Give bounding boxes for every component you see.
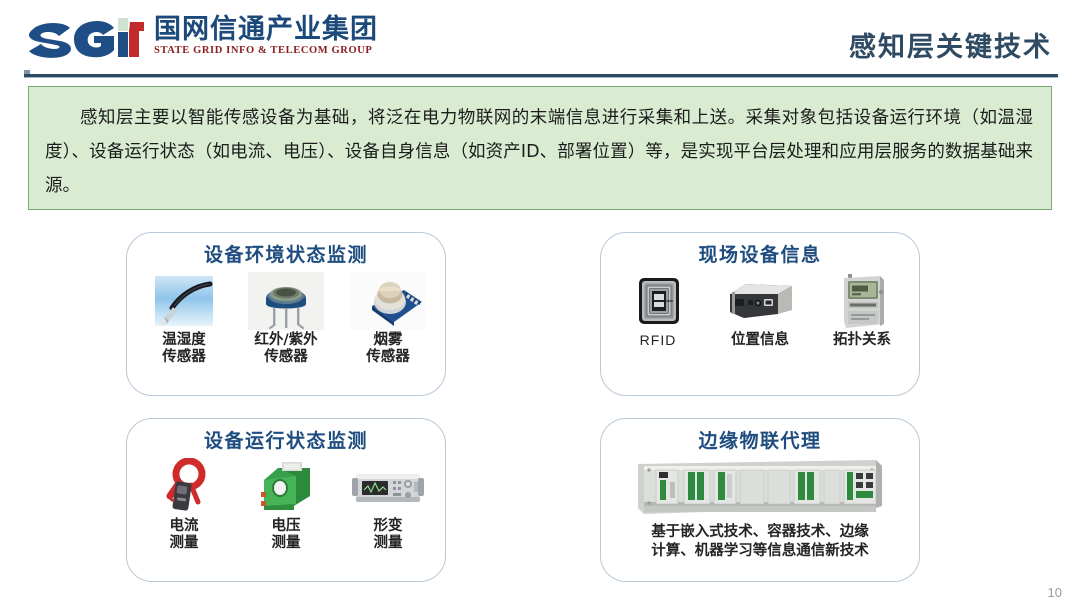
- item-label: 拓扑关系: [833, 332, 891, 349]
- item-current-measurement[interactable]: 电流 测量: [142, 458, 226, 552]
- page-title: 感知层关键技术: [849, 25, 1052, 64]
- brand-name-cn: 国网信通产业集团: [154, 16, 378, 44]
- item-deformation-measurement[interactable]: 形变 测量: [346, 458, 430, 552]
- card-title: 设备运行状态监测: [127, 431, 445, 452]
- item-label: 形变 测量: [374, 518, 403, 552]
- card-items: 电流 测量: [127, 458, 445, 552]
- slide-header: 国网信通产业集团 STATE GRID INFO & TELECOM GROUP…: [0, 0, 1080, 78]
- rfid-tag-icon: [620, 272, 696, 330]
- electric-meter-icon: [824, 272, 900, 330]
- item-voltage-measurement[interactable]: 电压 测量: [244, 458, 328, 552]
- brand-logo: 国网信通产业集团 STATE GRID INFO & TELECOM GROUP: [26, 16, 378, 60]
- intro-paragraph: 感知层主要以智能传感设备为基础，将泛在电力物联网的末端信息进行采集和上送。采集对…: [45, 101, 1033, 203]
- item-label: 电流 测量: [170, 518, 199, 552]
- card-title: 设备环境状态监测: [127, 245, 445, 266]
- card-operation-state-monitoring[interactable]: 设备运行状态监测 电流 测量: [126, 418, 446, 582]
- item-location-info[interactable]: 位置信息: [718, 272, 802, 349]
- item-topology-relation[interactable]: 拓扑关系: [820, 272, 904, 349]
- deformation-analyzer-icon: [350, 458, 426, 516]
- item-rfid[interactable]: RFID: [616, 272, 700, 349]
- card-title: 现场设备信息: [601, 245, 919, 266]
- card-items: RFID: [601, 272, 919, 349]
- item-label: 位置信息: [731, 332, 789, 349]
- item-temperature-humidity-sensor[interactable]: 温湿度 传感器: [142, 272, 226, 366]
- item-smoke-sensor[interactable]: 烟雾 传感器: [346, 272, 430, 366]
- edge-gateway-rack-icon: [634, 458, 886, 518]
- temperature-humidity-probe-icon: [146, 272, 222, 330]
- item-infrared-ultraviolet-sensor[interactable]: 红外/紫外 传感器: [244, 272, 328, 366]
- technology-card-grid: 设备环境状态监测: [0, 228, 1080, 588]
- card-caption: 基于嵌入式技术、容器技术、边缘 计算、机器学习等信息通信新技术: [601, 523, 919, 561]
- card-items: 温湿度 传感器: [127, 272, 445, 366]
- brand-name-en: STATE GRID INFO & TELECOM GROUP: [154, 44, 378, 59]
- smoke-sensor-module-icon: [350, 272, 426, 330]
- intro-callout-box: 感知层主要以智能传感设备为基础，将泛在电力物联网的末端信息进行采集和上送。采集对…: [28, 86, 1052, 210]
- item-label: 烟雾 传感器: [366, 332, 410, 366]
- card-field-device-info[interactable]: 现场设备信息 RF: [600, 232, 920, 396]
- clamp-meter-icon: [146, 458, 222, 516]
- brand-logo-text: 国网信通产业集团 STATE GRID INFO & TELECOM GROUP: [154, 16, 378, 60]
- voltage-transducer-icon: [248, 458, 324, 516]
- card-edge-iot-agent[interactable]: 边缘物联代理: [600, 418, 920, 582]
- page-number: 10: [1048, 585, 1062, 600]
- sgit-logo-mark-icon: [26, 18, 144, 60]
- card-environment-monitoring[interactable]: 设备环境状态监测: [126, 232, 446, 396]
- card-title: 边缘物联代理: [601, 431, 919, 452]
- infrared-ultraviolet-sensor-icon: [248, 272, 324, 330]
- item-label: 温湿度 传感器: [162, 332, 206, 366]
- location-device-icon: [722, 272, 798, 330]
- header-divider: [24, 74, 1058, 77]
- item-label: 红外/紫外 传感器: [254, 332, 317, 366]
- item-label: 电压 测量: [272, 518, 301, 552]
- item-label: RFID: [640, 332, 677, 349]
